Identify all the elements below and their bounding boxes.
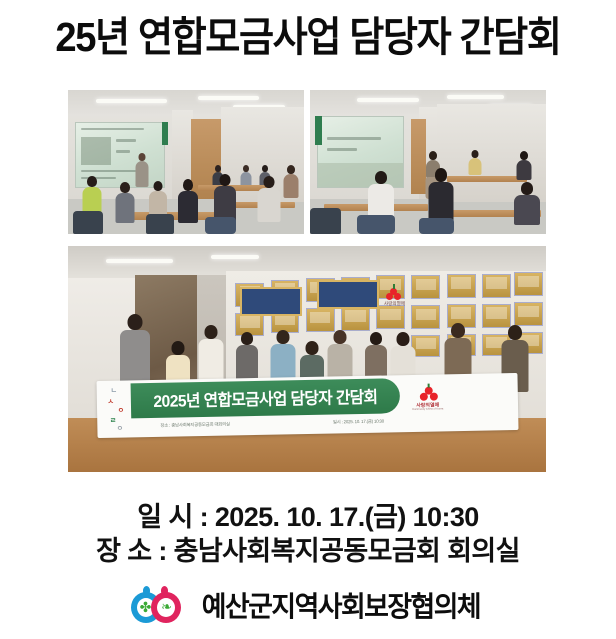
clover-icon: ✤ xyxy=(139,600,153,614)
sarangeui-yeolmae-wall-mark: 사랑의열매 xyxy=(383,284,405,306)
attendee-front xyxy=(110,182,138,234)
event-location: 장 소 : 충남사회복지공동모금회 회의실 xyxy=(0,529,616,568)
poster-canvas: 25년 연합모금사업 담당자 간담회 xyxy=(0,0,616,639)
wall-signboard xyxy=(240,287,302,316)
photo-row-top xyxy=(68,90,546,234)
attendee xyxy=(466,150,485,179)
banner-side-marks: ㄴ ㅅ ㅇ ㄹ ㅇ xyxy=(107,385,142,433)
wall-mark-label: 사랑의열매 xyxy=(377,301,411,307)
attendee-front xyxy=(252,176,285,234)
banner-place-line: 장소 : 충남사회복지공동모금회 대회의실 xyxy=(160,422,229,429)
banner-mark-sublabel: Community Chest of Korea xyxy=(410,407,444,411)
page-title: 25년 연합모금사업 담당자 간담회 xyxy=(22,14,595,60)
council-emblem-icon: ✤ ❧ xyxy=(131,584,189,626)
photo-seminar-presenter-female xyxy=(310,90,546,234)
photo-group-banner: 사랑의열매 xyxy=(68,246,546,472)
photo-seminar-presenter-male xyxy=(68,90,304,234)
screen-green-edge xyxy=(315,116,322,145)
organization-name: 예산군지역사회보장협의체 xyxy=(201,585,479,625)
attendee xyxy=(513,151,534,186)
banner-title: 2025년 연합모금사업 담당자 간담회 xyxy=(153,383,401,412)
attendee-front xyxy=(508,182,546,234)
banner-date-line: 일시 : 2025. 10. 17.(금) 10:30 xyxy=(332,419,383,426)
sarangeui-yeolmae-banner-mark: 사랑의열매 Community Chest of Korea xyxy=(416,384,442,410)
sprout-icon: ❧ xyxy=(160,599,174,615)
screen-green-edge xyxy=(162,122,168,145)
footer-logo: ✤ ❧ 예산군지역사회보장협의체 xyxy=(0,584,616,626)
event-banner: ㄴ ㅅ ㅇ ㄹ ㅇ 2025년 연합모금사업 담당자 간담회 장소 : 충남사회… xyxy=(96,373,518,438)
attendee-front xyxy=(174,179,202,234)
wall-signboard xyxy=(317,280,379,309)
